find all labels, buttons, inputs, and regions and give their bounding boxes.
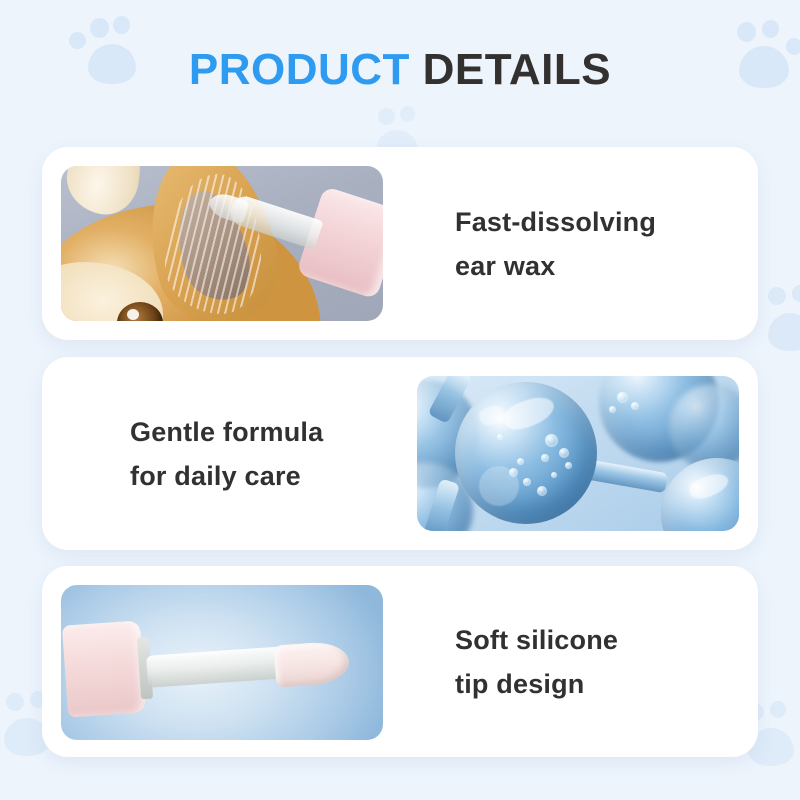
molecule-bubble <box>545 434 558 447</box>
feature-card-soft-silicone-tip[interactable]: Soft silicone tip design <box>42 566 758 757</box>
product-details-infographic: PRODUCT DETAILS Fast-dissolvin <box>0 0 800 800</box>
dropper-photo-scene <box>61 585 383 740</box>
dropper-silicone-tip <box>274 640 351 687</box>
silicone-tip-dropper-photo <box>61 585 383 740</box>
page-title-word-secondary: DETAILS <box>423 45 611 94</box>
molecule-bubble <box>541 454 549 462</box>
dropper-pink-cap <box>62 620 146 717</box>
feature-card-gentle-formula[interactable]: Gentle formula for daily care <box>42 357 758 550</box>
molecule-bubble <box>559 448 569 458</box>
molecule-bubble <box>517 458 524 465</box>
feature-text-line: Soft silicone <box>455 618 755 662</box>
molecule-bubble <box>609 406 616 413</box>
feature-text-soft-silicone-tip: Soft silicone tip design <box>455 618 755 706</box>
molecule-bubble <box>565 462 572 469</box>
dog-photo-scene <box>61 166 383 321</box>
molecule-bubble <box>523 478 531 486</box>
paw-print-watermark-mid-right <box>768 285 800 355</box>
molecule-bubble <box>631 402 639 410</box>
feature-card-fast-dissolving[interactable]: Fast-dissolving ear wax <box>42 147 758 340</box>
page-title: PRODUCT DETAILS <box>0 44 800 96</box>
molecule-bubble <box>497 434 503 440</box>
molecule-bubble <box>537 486 547 496</box>
molecule-bubble <box>617 392 628 403</box>
feature-text-fast-dissolving: Fast-dissolving ear wax <box>455 200 755 288</box>
feature-text-line: Fast-dissolving <box>455 200 755 244</box>
dropper-tip <box>206 190 250 225</box>
corgi-ear-dropper-photo <box>61 166 383 321</box>
feature-text-line: Gentle formula <box>130 410 430 454</box>
feature-text-line: tip design <box>455 662 755 706</box>
molecule-bubble <box>551 472 557 478</box>
feature-text-line: for daily care <box>130 454 430 498</box>
feature-text-line: ear wax <box>455 244 755 288</box>
molecule-bubble <box>509 468 518 477</box>
page-title-word-primary: PRODUCT <box>189 45 410 94</box>
molecule-structure-photo <box>417 376 739 531</box>
molecule-scene <box>417 376 739 531</box>
feature-text-gentle-formula: Gentle formula for daily care <box>130 410 430 498</box>
dropper-glass-stem <box>146 646 288 688</box>
